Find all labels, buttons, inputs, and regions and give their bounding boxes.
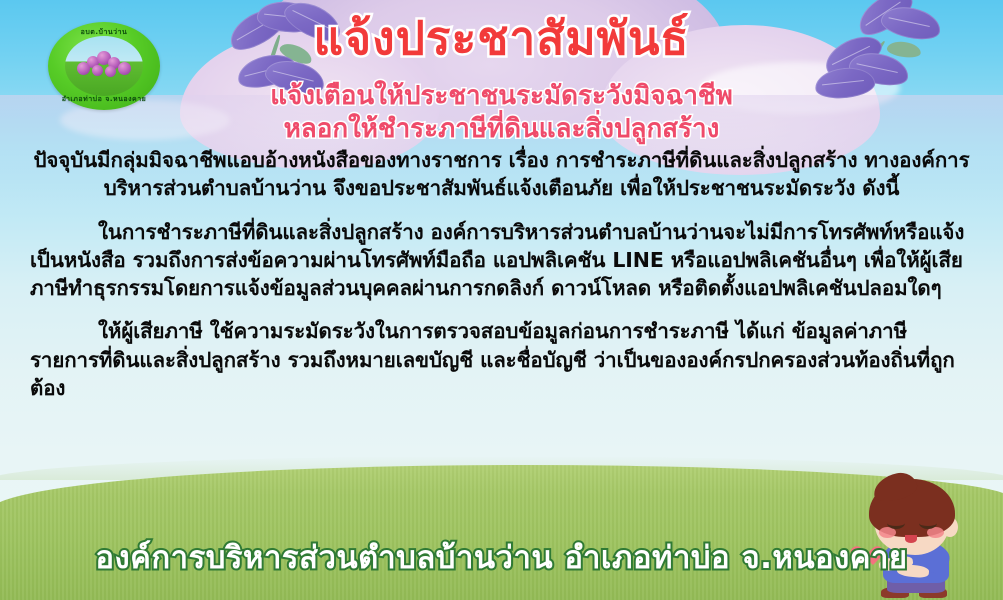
announcement-body: ปัจจุบันมีกลุ่มมิจฉาชีพแอบอ้างหนังสือของ…: [30, 146, 973, 402]
eye-closed-icon: [887, 517, 905, 529]
eye-closed-icon: [919, 517, 937, 529]
page-subtitle: แจ้งเตือนให้ประชาชนระมัดระวังมิจฉาชีพ หล…: [0, 80, 1003, 147]
subtitle-line-1: แจ้งเตือนให้ประชาชนระมัดระวังมิจฉาชีพ: [0, 80, 1003, 113]
footer-organization-name: องค์การบริหารส่วนตำบลบ้านว่าน อำเภอท่าบ่…: [0, 532, 1003, 582]
paragraph-1: ปัจจุบันมีกลุ่มมิจฉาชีพแอบอ้างหนังสือของ…: [30, 146, 973, 203]
announcement-poster: อบต.บ้านว่าน อำเภอท่าบ่อ จ.หนองคาย แจ้งป…: [0, 0, 1003, 600]
subtitle-line-2: หลอกให้ชำระภาษีที่ดินและสิ่งปลูกสร้าง: [0, 113, 1003, 146]
paragraph-3: ให้ผู้เสียภาษี ใช้ความระมัดระวังในการตรว…: [30, 317, 973, 402]
paragraph-2: ในการชำระภาษีที่ดินและสิ่งปลูกสร้าง องค์…: [30, 218, 973, 303]
page-title: แจ้งประชาสัมพันธ์: [0, 14, 1003, 62]
